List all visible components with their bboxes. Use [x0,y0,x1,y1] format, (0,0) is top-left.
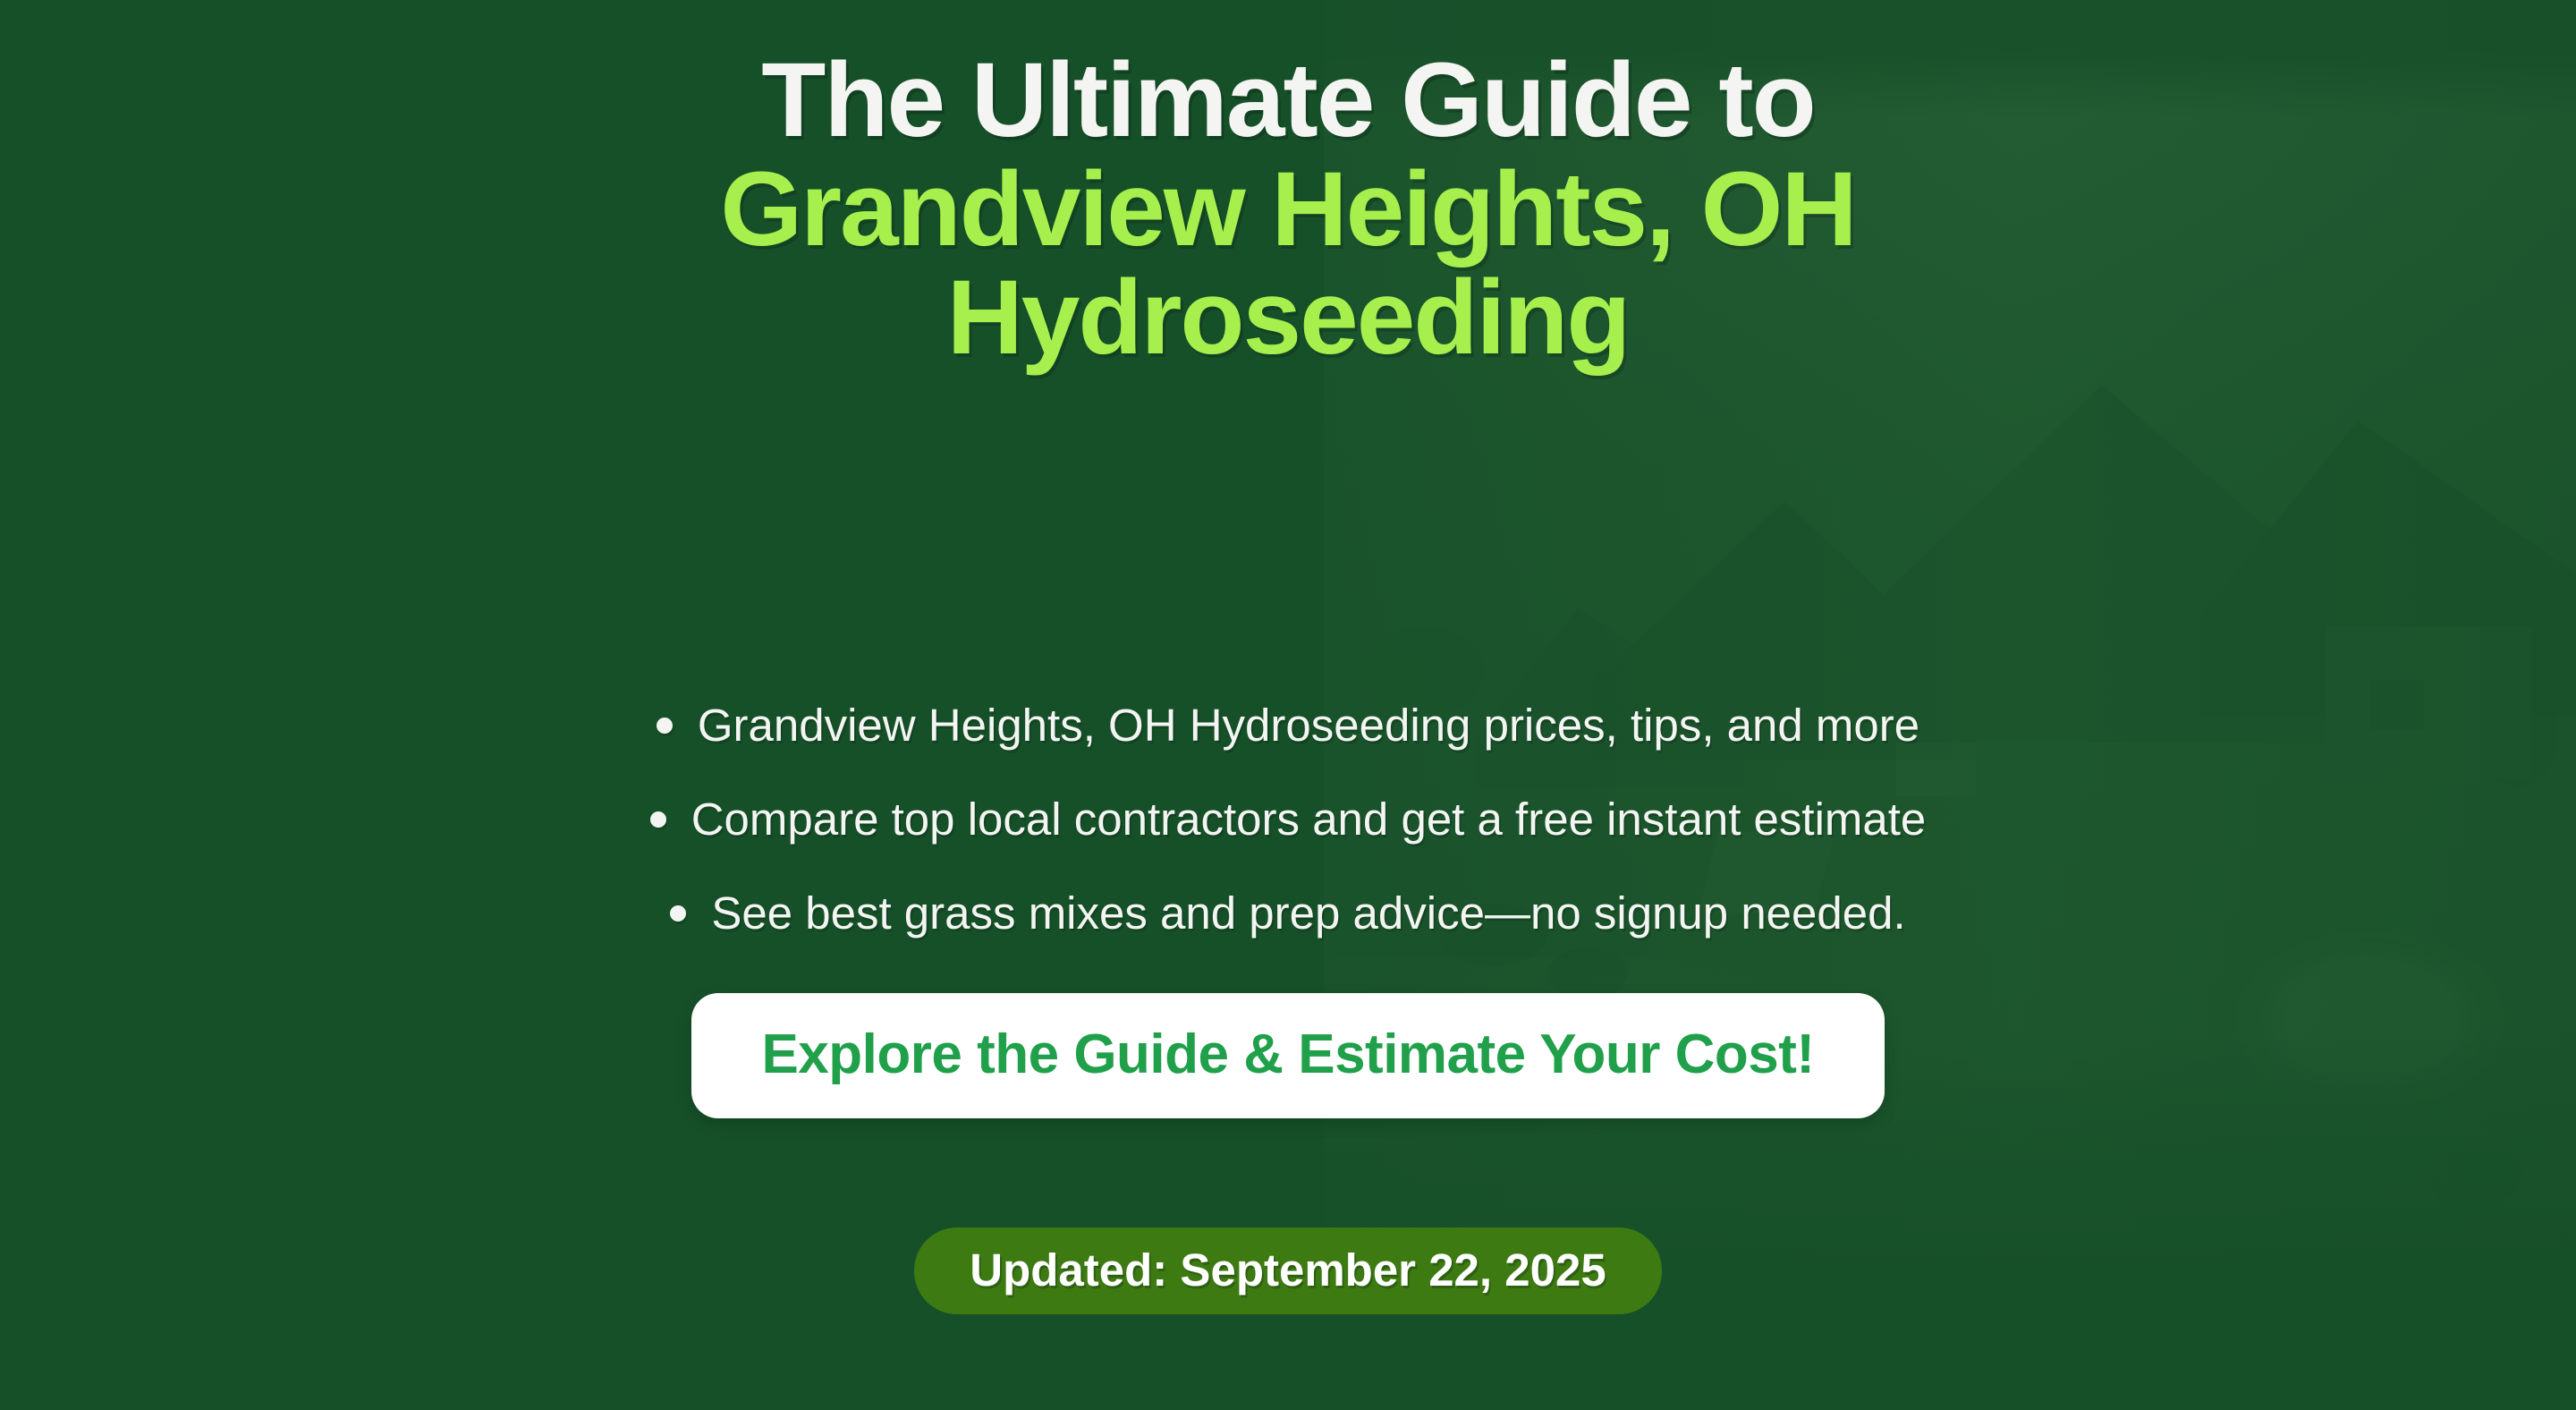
bullet-dot-icon [657,718,673,734]
updated-date-badge: Updated: September 22, 2025 [914,1227,1661,1314]
bullet-dot-icon [650,811,666,828]
bullet-dot-icon [670,905,686,922]
headline-line-1: The Ultimate Guide to [0,47,2576,156]
explore-guide-button[interactable]: Explore the Guide & Estimate Your Cost! [691,993,1884,1118]
bullet-text: Grandview Heights, OH Hydroseeding price… [698,700,1919,751]
list-item: Compare top local contractors and get a … [0,772,2576,866]
hero-banner: The Ultimate Guide to Grandview Heights,… [0,0,2576,1410]
headline-line-2: Grandview Heights, OH [0,156,2576,265]
cta-container: Explore the Guide & Estimate Your Cost! [0,993,2576,1118]
headline-line-3: Hydroseeding [0,264,2576,373]
badge-container: Updated: September 22, 2025 [0,1227,2576,1314]
list-item: Grandview Heights, OH Hydroseeding price… [0,678,2576,772]
list-item: See best grass mixes and prep advice—no … [0,866,2576,960]
bullet-text: Compare top local contractors and get a … [691,794,1927,845]
bullet-text: See best grass mixes and prep advice—no … [711,888,1905,939]
page-title: The Ultimate Guide to Grandview Heights,… [0,47,2576,373]
feature-bullet-list: Grandview Heights, OH Hydroseeding price… [0,678,2576,960]
banner-content: The Ultimate Guide to Grandview Heights,… [0,0,2576,1410]
